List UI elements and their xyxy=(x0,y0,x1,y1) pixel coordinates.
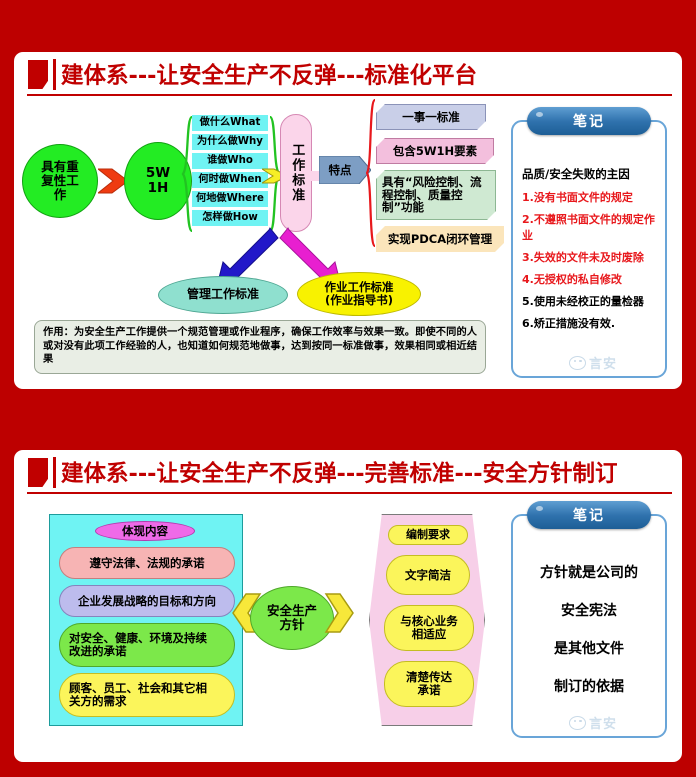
slide2-title: 建体系---让安全生产不反弹---完善标准---安全方针制订 xyxy=(61,456,618,488)
slide-standardization-platform: 建体系---让安全生产不反弹---标准化平台 具有重 复性工 作 xyxy=(14,52,682,389)
node-safety-policy: 安全生产 方针 xyxy=(250,586,334,650)
w5h1-item-why: 为什么做Why xyxy=(192,134,268,150)
slide-safety-policy: 建体系---让安全生产不反弹---完善标准---安全方针制订 体现内容 遵守法律… xyxy=(14,450,682,762)
notes-item-3: 3.失效的文件未及时废除 xyxy=(522,249,658,265)
title-underline xyxy=(27,94,672,97)
slide2-canvas: 体现内容 遵守法律、法规的承诺 企业发展战略的目标和方向 对安全、健康、环境及持… xyxy=(14,496,682,762)
title-underline xyxy=(27,492,672,495)
wechat-face-icon xyxy=(569,356,586,370)
notes-header-2: 笔记 xyxy=(527,501,651,529)
content-item-1: 遵守法律、法规的承诺 xyxy=(59,547,235,579)
feature-box-4: 实现PDCA闭环管理 xyxy=(376,226,504,252)
requirement-item-1: 文字简洁 xyxy=(386,555,470,595)
feature-box-1: 一事一标准 xyxy=(376,104,486,130)
notes-header-1: 笔记 xyxy=(527,107,651,135)
slide1-caption: 作用：为安全生产工作提供一个规范管理或作业程序，确保工作效率与效果一致。即使不同… xyxy=(34,320,486,374)
content-item-3: 对安全、健康、环境及持续 改进的承诺 xyxy=(59,623,235,667)
hub-line-2: 1H xyxy=(148,180,169,196)
node-work-standard: 工作标准 xyxy=(280,114,312,232)
notes-item-6: 6.矫正措施没有效. xyxy=(522,315,658,331)
notes-panel-2: 方针就是公司的 安全宪法 是其他文件 制订的依据 言安 xyxy=(511,514,667,738)
label-features-text: 特点 xyxy=(319,156,361,184)
output-line-2: (作业指导书) xyxy=(325,293,393,307)
notes-panel-1: 品质/安全失败的主因 1.没有书面文件的规定 2.不遵照书面文件的规定作业 3.… xyxy=(511,120,667,378)
node-center-line-1: 安全生产 xyxy=(267,603,317,618)
w5h1-item-where: 何地做Where xyxy=(192,191,268,207)
watermark-2: 言安 xyxy=(569,713,617,732)
node-line-1: 具有重 xyxy=(41,159,79,174)
requirement-item-3-line-2: 承诺 xyxy=(418,683,441,697)
slide1-canvas: 具有重 复性工 作 5W 1H xyxy=(14,98,682,389)
watermark-1: 言安 xyxy=(569,353,617,372)
notes-heading: 品质/安全失败的主因 xyxy=(522,166,658,182)
notes-line-1: 方针就是公司的 xyxy=(513,562,665,582)
red-flag-icon xyxy=(28,60,48,89)
content-item-4: 顾客、员工、社会和其它相 关方的需求 xyxy=(59,673,235,717)
slide-deck-page: 建体系---让安全生产不反弹---标准化平台 具有重 复性工 作 xyxy=(0,0,696,777)
node-line-2: 复性工 xyxy=(41,173,79,188)
output-management-standard: 管理工作标准 xyxy=(158,276,288,314)
bracket-red-icon xyxy=(366,99,376,247)
requirement-item-3: 清楚传达 承诺 xyxy=(384,661,474,707)
node-work-standard-label: 工作标准 xyxy=(289,143,304,203)
node-line-3: 作 xyxy=(54,187,67,202)
arrow-right-yellow-icon xyxy=(324,592,354,634)
content-header: 体现内容 xyxy=(95,521,195,541)
node-center-line-2: 方针 xyxy=(279,617,304,632)
notes-item-2: 2.不遵照书面文件的规定作业 xyxy=(522,211,658,243)
node-repetitive-work: 具有重 复性工 作 xyxy=(22,144,98,218)
requirements-container: 编制要求 文字简洁 与核心业务 相适应 清楚传达 承诺 xyxy=(369,514,485,726)
w5h1-item-what: 做什么What xyxy=(192,115,268,131)
notes-body-1: 品质/安全失败的主因 1.没有书面文件的规定 2.不遵照书面文件的规定作业 3.… xyxy=(522,166,658,331)
red-flag-icon xyxy=(28,458,48,487)
notes-line-3: 是其他文件 xyxy=(513,638,665,658)
title-divider xyxy=(53,457,56,488)
wechat-face-icon xyxy=(569,716,586,730)
feature-box-3: 具有“风险控制、流程控制、质量控制”功能 xyxy=(376,170,496,220)
requirement-item-2: 与核心业务 相适应 xyxy=(384,605,474,651)
label-features: 特点 xyxy=(319,156,371,184)
content-container: 体现内容 遵守法律、法规的承诺 企业发展战略的目标和方向 对安全、健康、环境及持… xyxy=(49,514,243,726)
slide1-title: 建体系---让安全生产不反弹---标准化平台 xyxy=(61,58,477,90)
notes-line-2: 安全宪法 xyxy=(513,600,665,620)
notes-body-2: 方针就是公司的 安全宪法 是其他文件 制订的依据 xyxy=(513,562,665,696)
content-item-2: 企业发展战略的目标和方向 xyxy=(59,585,235,617)
output-operation-standard: 作业工作标准 (作业指导书) xyxy=(297,272,421,316)
slide1-title-bar: 建体系---让安全生产不反弹---标准化平台 xyxy=(14,52,682,98)
requirement-item-2-line-2: 相适应 xyxy=(412,627,447,641)
content-item-4-line-2: 关方的需求 xyxy=(69,694,127,708)
w5h1-item-how: 怎样做How xyxy=(192,210,268,226)
notes-item-1: 1.没有书面文件的规定 xyxy=(522,189,658,205)
slide2-title-bar: 建体系---让安全生产不反弹---完善标准---安全方针制订 xyxy=(14,450,682,496)
w5h1-item-who: 谁做Who xyxy=(192,153,268,169)
notes-line-4: 制订的依据 xyxy=(513,676,665,696)
content-item-3-line-2: 改进的承诺 xyxy=(69,644,127,658)
requirement-header: 编制要求 xyxy=(388,525,468,545)
notes-item-4: 4.无授权的私自修改 xyxy=(522,271,658,287)
title-divider xyxy=(53,59,56,90)
w5h1-list: 做什么What 为什么做Why 谁做Who 何时做When 何地做Where 怎… xyxy=(192,115,268,226)
w5h1-item-when: 何时做When xyxy=(192,172,268,188)
hub-line-1: 5W xyxy=(146,165,170,181)
feature-box-2: 包含5W1H要素 xyxy=(376,138,494,164)
notes-item-5: 5.使用未经校正的量检器 xyxy=(522,293,658,309)
watermark-text: 言安 xyxy=(589,353,617,372)
watermark-text: 言安 xyxy=(589,713,617,732)
